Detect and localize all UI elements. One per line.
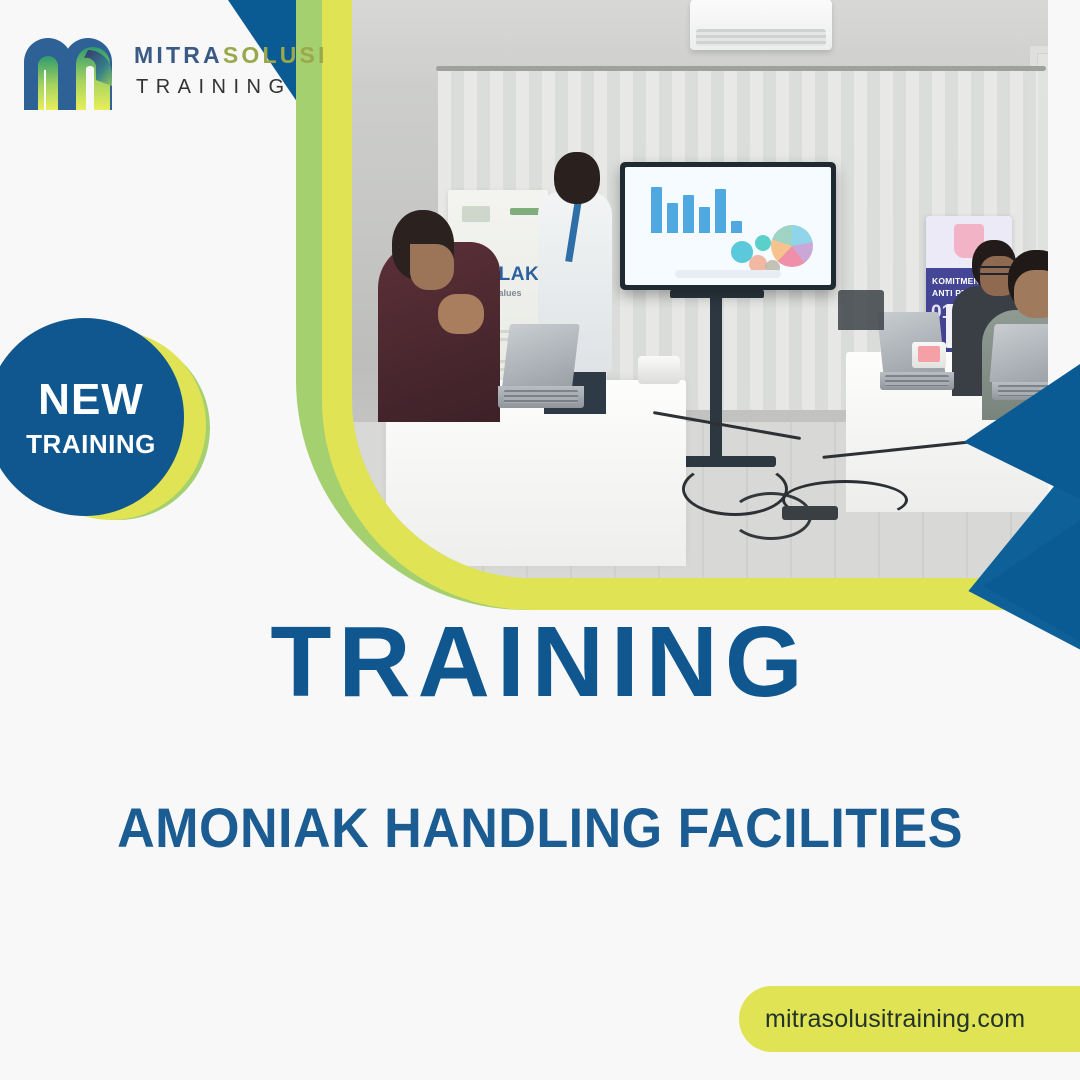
participant-seated-left-face	[410, 244, 454, 290]
screen-bubble	[755, 235, 771, 251]
screen-bar-chart	[651, 173, 742, 233]
website-pill[interactable]: mitrasolusitraining.com	[739, 986, 1080, 1052]
badge-line-training: TRAINING	[26, 431, 156, 457]
participant-glasses-icon	[978, 266, 1012, 275]
power-strip	[782, 506, 838, 520]
display-stand-pole	[710, 290, 722, 460]
logo-wordmark-solusi: SOLUSI	[223, 42, 328, 68]
display-screen	[625, 167, 831, 285]
participant-right-front-face	[1014, 270, 1048, 318]
training-photo: AKHLAK Core Values Amanah KOMITMEN SAYA …	[352, 0, 1048, 578]
presenter-head	[554, 152, 600, 204]
laptop	[498, 324, 584, 420]
badge-line-new: NEW	[38, 378, 144, 422]
poster-canvas: AKHLAK Core Values Amanah KOMITMEN SAYA …	[0, 0, 1080, 1080]
screen-toolbar	[675, 270, 781, 278]
logo-subtitle: TRAINING	[136, 76, 292, 99]
laptop	[838, 290, 892, 344]
curtain-rail	[436, 66, 1046, 71]
tissue-box	[918, 346, 940, 362]
brand-logo[interactable]: MITRASOLUSI TRAINING	[18, 26, 288, 114]
screen-pie-chart	[771, 225, 813, 267]
air-conditioner-icon	[690, 0, 832, 50]
mitra-m-arches-icon	[18, 26, 128, 114]
logo-wordmark-mitra: MITRA	[134, 42, 223, 68]
projector-box	[638, 356, 680, 384]
page-title: TRAINING	[0, 612, 1080, 712]
presentation-display	[620, 162, 836, 290]
participant-seated-left-hands	[438, 294, 484, 334]
page-subtitle: AMONIAK HANDLING FACILITIES	[38, 797, 1042, 859]
new-training-badge[interactable]: NEW TRAINING	[8, 316, 214, 566]
logo-wordmark: MITRASOLUSI	[134, 42, 328, 69]
photo-frame: AKHLAK Core Values Amanah KOMITMEN SAYA …	[296, 0, 1048, 610]
website-url: mitrasolusitraining.com	[765, 1005, 1025, 1034]
